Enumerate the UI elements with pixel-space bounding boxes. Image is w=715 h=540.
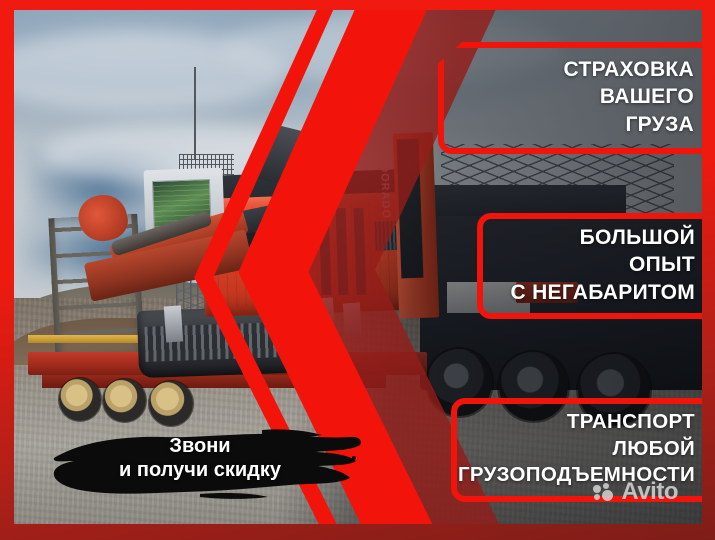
promo-line-1: Звони (50, 434, 350, 458)
callout-experience-text: БОЛЬШОЙ ОПЫТ С НЕГАБАРИТОМ (510, 224, 695, 306)
callout-line: С НЕГАБАРИТОМ (510, 279, 695, 306)
advert-banner: group DORADO СТРАХОВКА ВАШЕГО (0, 0, 715, 540)
callout-line: ЛЮБОЙ (458, 436, 695, 463)
avito-watermark: Avito (593, 478, 678, 506)
callout-insurance: СТРАХОВКА ВАШЕГО ГРУЗА (438, 42, 702, 154)
callout-line: СТРАХОВКА (564, 56, 694, 83)
callout-experience: БОЛЬШОЙ ОПЫТ С НЕГАБАРИТОМ (477, 213, 702, 319)
promo-line-2: и получи скидку (50, 458, 350, 482)
promo-text: Звони и получи скидку (50, 434, 350, 483)
banner-content: group DORADO СТРАХОВКА ВАШЕГО (14, 10, 702, 524)
callout-line: ОПЫТ (510, 251, 695, 278)
avito-dots-icon (593, 483, 615, 501)
callout-capacity-text: ТРАНСПОРТ ЛЮБОЙ ГРУЗОПОДЪЕМНОСТИ (458, 409, 695, 489)
avito-wordmark: Avito (621, 478, 678, 506)
callout-line: ГРУЗА (564, 111, 694, 138)
callout-line: ТРАНСПОРТ (458, 409, 695, 436)
callout-line: ВАШЕГО (564, 83, 694, 110)
callout-line: БОЛЬШОЙ (510, 224, 695, 251)
callout-insurance-text: СТРАХОВКА ВАШЕГО ГРУЗА (564, 56, 694, 138)
